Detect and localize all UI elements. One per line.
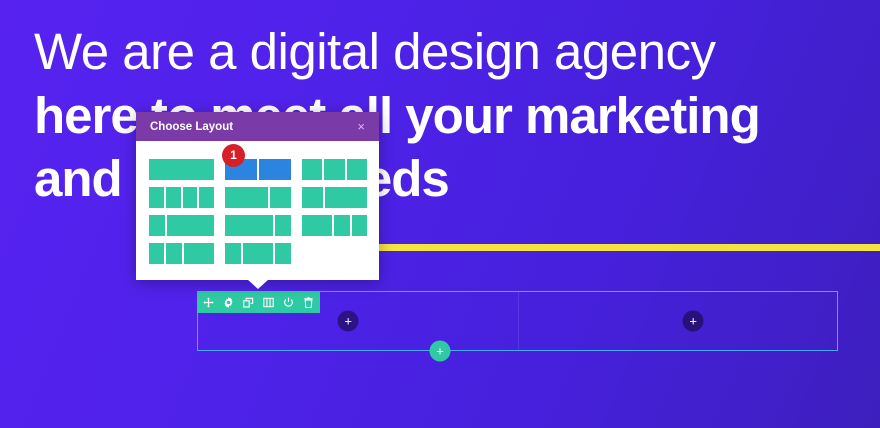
layout-segment (302, 187, 323, 208)
add-module-button-left[interactable]: + (338, 311, 359, 332)
hero-headline: We are a digital design agency here to m… (0, 0, 880, 210)
layout-segment (225, 215, 273, 236)
modal-header: Choose Layout × (136, 112, 379, 141)
layout-segment (166, 243, 181, 264)
layout-3-column-equal[interactable] (302, 159, 367, 180)
layout-segment (275, 243, 290, 264)
yellow-divider-bar (378, 244, 880, 251)
layout-options-grid: 1 (136, 141, 379, 280)
modal-pointer-notch (247, 279, 269, 289)
layout-segment (325, 187, 367, 208)
layout-segment (225, 243, 240, 264)
layout-half-quarter-quarter[interactable] (302, 215, 367, 236)
layout-quarter-quarter-half[interactable] (149, 243, 214, 264)
layout-segment (183, 187, 198, 208)
layout-three-quarters-one-quarter[interactable] (225, 215, 290, 236)
layout-segment (149, 159, 214, 180)
layout-segment (167, 215, 215, 236)
layout-empty-slot (302, 243, 367, 264)
layout-option-row (149, 243, 367, 264)
choose-layout-modal[interactable]: Choose Layout × 1 (136, 112, 379, 280)
layout-segment (199, 187, 214, 208)
headline-line-1: We are a digital design agency (34, 20, 880, 84)
layout-1-column[interactable] (149, 159, 214, 180)
close-icon[interactable]: × (355, 118, 367, 135)
duplicate-icon[interactable] (243, 297, 254, 308)
modal-title: Choose Layout (150, 121, 233, 133)
layout-segment (166, 187, 181, 208)
step-badge: 1 (222, 144, 245, 167)
layout-segment (302, 159, 322, 180)
layout-segment (149, 187, 164, 208)
layout-segment (334, 215, 349, 236)
trash-icon[interactable] (303, 297, 314, 308)
column-divider (518, 292, 519, 350)
layout-quarter-half-quarter[interactable] (225, 243, 290, 264)
layout-option-row (149, 159, 367, 180)
layout-option-row (149, 187, 367, 208)
layout-two-thirds-one-third[interactable] (225, 187, 290, 208)
page-canvas: We are a digital design agency here to m… (0, 0, 880, 428)
layout-segment (259, 159, 291, 180)
add-row-button[interactable]: + (430, 341, 451, 362)
layout-segment (270, 187, 291, 208)
layout-segment (225, 187, 267, 208)
move-icon[interactable] (203, 297, 214, 308)
power-icon[interactable] (283, 297, 294, 308)
gear-icon[interactable] (223, 297, 234, 308)
columns-icon[interactable] (263, 297, 274, 308)
layout-4-column-equal[interactable] (149, 187, 214, 208)
layout-one-quarter-three-quarters[interactable] (149, 215, 214, 236)
layout-option-row (149, 215, 367, 236)
layout-one-third-two-thirds[interactable] (302, 187, 367, 208)
layout-segment (324, 159, 344, 180)
layout-segment (184, 243, 215, 264)
layout-segment (149, 243, 164, 264)
add-module-button-right[interactable]: + (683, 311, 704, 332)
layout-segment (275, 215, 291, 236)
layout-segment (302, 215, 333, 236)
row-toolbar[interactable] (197, 291, 320, 313)
layout-segment (243, 243, 274, 264)
layout-segment (347, 159, 367, 180)
layout-segment (352, 215, 367, 236)
layout-segment (149, 215, 165, 236)
